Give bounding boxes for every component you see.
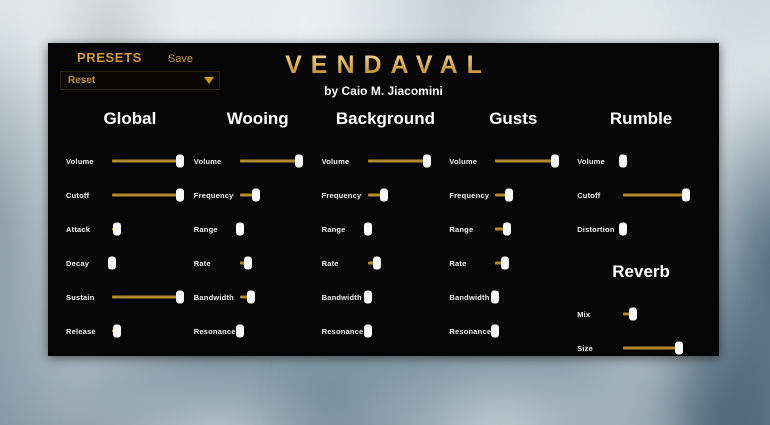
slider-rumble-cutoff[interactable] — [623, 188, 691, 202]
slider-background-frequency[interactable] — [368, 188, 436, 202]
slider-thumb[interactable] — [295, 155, 303, 168]
slider-thumb[interactable] — [364, 291, 372, 304]
slider-track-fill — [112, 296, 180, 299]
slider-track-fill — [240, 160, 300, 163]
column-wooing: WooingVolumeFrequencyRangeRateBandwidthR… — [194, 109, 322, 365]
slider-thumb[interactable] — [176, 155, 184, 168]
control-row: Sustain — [66, 280, 194, 314]
control-row: Distortion — [577, 212, 705, 246]
control-label-background-frequency: Frequency — [322, 191, 368, 200]
control-label-background-bandwidth: Bandwidth — [322, 293, 368, 302]
control-label-wooing-rate: Rate — [194, 259, 240, 268]
control-row: Cutoff — [66, 178, 194, 212]
slider-background-rate[interactable] — [368, 256, 436, 270]
slider-gusts-range[interactable] — [495, 222, 563, 236]
slider-thumb[interactable] — [491, 291, 499, 304]
control-label-global-volume: Volume — [66, 157, 112, 166]
control-row: Range — [322, 212, 450, 246]
control-label-gusts-volume: Volume — [449, 157, 495, 166]
slider-gusts-bandwidth[interactable] — [495, 290, 563, 304]
control-label-background-range: Range — [322, 225, 368, 234]
control-row: Attack — [66, 212, 194, 246]
slider-reverb-mix[interactable] — [623, 307, 691, 321]
control-row: Rate — [449, 246, 577, 280]
control-label-reverb-mix: Mix — [577, 310, 623, 319]
slider-thumb[interactable] — [380, 189, 388, 202]
slider-rumble-distortion[interactable] — [623, 222, 691, 236]
control-row: Rate — [194, 246, 322, 280]
control-label-rumble-distortion: Distortion — [577, 225, 623, 234]
control-label-global-decay: Decay — [66, 259, 112, 268]
preset-select-dropdown[interactable]: Reset — [60, 71, 220, 90]
slider-wooing-frequency[interactable] — [240, 188, 308, 202]
control-row: Bandwidth — [194, 280, 322, 314]
control-row: Volume — [194, 144, 322, 178]
control-row: Bandwidth — [322, 280, 450, 314]
chevron-down-icon — [204, 77, 214, 84]
slider-track-fill — [112, 194, 180, 197]
slider-thumb[interactable] — [108, 257, 116, 270]
section-title-wooing: Wooing — [194, 109, 322, 129]
section-title-background: Background — [322, 109, 450, 129]
slider-thumb[interactable] — [113, 325, 121, 338]
slider-thumb[interactable] — [551, 155, 559, 168]
slider-gusts-resonance[interactable] — [495, 324, 563, 338]
presets-heading: PRESETS — [77, 50, 142, 65]
control-row: Decay — [66, 246, 194, 280]
slider-background-volume[interactable] — [368, 154, 436, 168]
control-row: Size — [577, 331, 705, 365]
control-label-gusts-range: Range — [449, 225, 495, 234]
control-label-gusts-resonance: Resonance — [449, 327, 495, 336]
slider-global-decay[interactable] — [112, 256, 180, 270]
slider-track-fill — [368, 160, 428, 163]
control-label-wooing-bandwidth: Bandwidth — [194, 293, 240, 302]
control-label-gusts-frequency: Frequency — [449, 191, 495, 200]
control-row: Range — [449, 212, 577, 246]
slider-thumb[interactable] — [501, 257, 509, 270]
control-row: Rate — [322, 246, 450, 280]
control-row: Range — [194, 212, 322, 246]
slider-thumb[interactable] — [364, 223, 372, 236]
control-row: Volume — [322, 144, 450, 178]
slider-wooing-bandwidth[interactable] — [240, 290, 308, 304]
control-label-wooing-volume: Volume — [194, 157, 240, 166]
slider-thumb[interactable] — [675, 342, 683, 355]
control-label-global-release: Release — [66, 327, 112, 336]
section-title-reverb: Reverb — [577, 262, 705, 282]
slider-thumb[interactable] — [176, 291, 184, 304]
slider-rumble-volume[interactable] — [623, 154, 691, 168]
control-row: Resonance — [194, 314, 322, 348]
control-label-wooing-resonance: Resonance — [194, 327, 240, 336]
slider-gusts-volume[interactable] — [495, 154, 563, 168]
slider-wooing-resonance[interactable] — [240, 324, 308, 338]
slider-wooing-range[interactable] — [240, 222, 308, 236]
control-row: Volume — [66, 144, 194, 178]
slider-thumb[interactable] — [423, 155, 431, 168]
save-preset-button[interactable]: Save — [168, 53, 193, 65]
control-row: Release — [66, 314, 194, 348]
control-label-rumble-cutoff: Cutoff — [577, 191, 623, 200]
control-label-background-resonance: Resonance — [322, 327, 368, 336]
slider-global-volume[interactable] — [112, 154, 180, 168]
control-row: Resonance — [449, 314, 577, 348]
control-label-rumble-volume: Volume — [577, 157, 623, 166]
column-global: GlobalVolumeCutoffAttackDecaySustainRele… — [66, 109, 194, 365]
slider-background-resonance[interactable] — [368, 324, 436, 338]
column-rumble: RumbleVolumeCutoffDistortionReverbMixSiz… — [577, 109, 705, 365]
slider-thumb[interactable] — [236, 223, 244, 236]
control-row: Frequency — [322, 178, 450, 212]
column-background: BackgroundVolumeFrequencyRangeRateBandwi… — [322, 109, 450, 365]
slider-thumb[interactable] — [503, 223, 511, 236]
slider-thumb[interactable] — [505, 189, 513, 202]
control-label-gusts-bandwidth: Bandwidth — [449, 293, 495, 302]
slider-global-sustain[interactable] — [112, 290, 180, 304]
slider-thumb[interactable] — [113, 223, 121, 236]
section-title-gusts: Gusts — [449, 109, 577, 129]
control-label-gusts-rate: Rate — [449, 259, 495, 268]
control-label-reverb-size: Size — [577, 344, 623, 353]
slider-thumb[interactable] — [373, 257, 381, 270]
control-label-global-cutoff: Cutoff — [66, 191, 112, 200]
preset-selected-value: Reset — [68, 75, 95, 86]
control-row: Bandwidth — [449, 280, 577, 314]
slider-reverb-size[interactable] — [623, 341, 691, 355]
control-label-wooing-range: Range — [194, 225, 240, 234]
slider-global-attack[interactable] — [112, 222, 180, 236]
slider-wooing-volume[interactable] — [240, 154, 308, 168]
control-row: Volume — [577, 144, 705, 178]
slider-background-bandwidth[interactable] — [368, 290, 436, 304]
control-row: Resonance — [322, 314, 450, 348]
slider-global-release[interactable] — [112, 324, 180, 338]
slider-wooing-rate[interactable] — [240, 256, 308, 270]
slider-thumb[interactable] — [176, 189, 184, 202]
section-title-rumble: Rumble — [577, 109, 705, 129]
slider-thumb[interactable] — [629, 308, 637, 321]
slider-thumb[interactable] — [682, 189, 690, 202]
control-label-wooing-frequency: Frequency — [194, 191, 240, 200]
slider-thumb[interactable] — [619, 223, 627, 236]
slider-background-range[interactable] — [368, 222, 436, 236]
slider-thumb[interactable] — [491, 325, 499, 338]
slider-track-fill — [112, 160, 180, 163]
slider-global-cutoff[interactable] — [112, 188, 180, 202]
control-label-background-volume: Volume — [322, 157, 368, 166]
slider-gusts-frequency[interactable] — [495, 188, 563, 202]
control-row: Mix — [577, 297, 705, 331]
control-label-background-rate: Rate — [322, 259, 368, 268]
parameter-columns: GlobalVolumeCutoffAttackDecaySustainRele… — [48, 109, 719, 365]
slider-thumb[interactable] — [619, 155, 627, 168]
slider-thumb[interactable] — [244, 257, 252, 270]
column-gusts: GustsVolumeFrequencyRangeRateBandwidthRe… — [449, 109, 577, 365]
control-row: Frequency — [449, 178, 577, 212]
plugin-window: PRESETS Save Reset VENDAVAL by Caio M. J… — [48, 43, 719, 356]
slider-track-fill — [495, 160, 555, 163]
slider-thumb[interactable] — [236, 325, 244, 338]
slider-gusts-rate[interactable] — [495, 256, 563, 270]
control-label-global-sustain: Sustain — [66, 293, 112, 302]
preset-bar: PRESETS Save Reset — [60, 50, 228, 90]
control-row: Volume — [449, 144, 577, 178]
slider-track-fill — [623, 194, 685, 197]
section-title-global: Global — [66, 109, 194, 129]
slider-track-fill — [623, 347, 679, 350]
control-row: Cutoff — [577, 178, 705, 212]
slider-thumb[interactable] — [364, 325, 372, 338]
control-row: Frequency — [194, 178, 322, 212]
slider-thumb[interactable] — [247, 291, 255, 304]
slider-thumb[interactable] — [252, 189, 260, 202]
control-label-global-attack: Attack — [66, 225, 112, 234]
